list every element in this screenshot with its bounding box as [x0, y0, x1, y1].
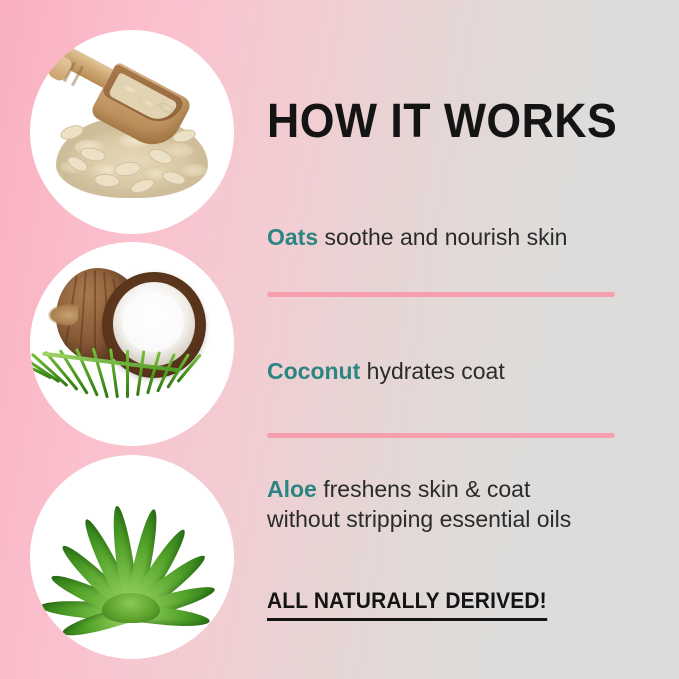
frond-leaflet — [109, 348, 119, 398]
aloe-vera-image — [30, 455, 234, 659]
benefit-line-coconut: Coconut hydrates coat — [267, 356, 505, 386]
benefit-keyword-oats: Oats — [267, 224, 318, 250]
benefit-keyword-coconut: Coconut — [267, 358, 360, 384]
palm-frond — [30, 242, 234, 446]
divider-rule-1 — [267, 292, 615, 297]
ingredient-image-column — [30, 30, 234, 659]
coconut-image — [30, 242, 234, 446]
frond-leaflet — [126, 350, 129, 398]
benefit-text-coconut: hydrates coat — [360, 358, 504, 384]
divider-rule-2 — [267, 433, 615, 438]
frond-leaflet — [136, 350, 145, 396]
text-content-column: HOW IT WORKS Oats soothe and nourish ski… — [267, 0, 667, 679]
page-title: HOW IT WORKS — [267, 98, 617, 146]
benefit-line-aloe: Aloe freshens skin & coat without stripp… — [267, 474, 571, 534]
aloe-rosette-base — [102, 593, 160, 623]
aloe-artwork — [30, 455, 234, 659]
oats-scoop-image — [30, 30, 234, 234]
benefit-text-aloe: freshens skin & coat — [317, 476, 531, 502]
oats-artwork — [30, 30, 234, 234]
benefit-line-aloe-first: Aloe freshens skin & coat — [267, 474, 571, 504]
benefit-keyword-aloe: Aloe — [267, 476, 317, 502]
benefit-line-aloe-second: without stripping essential oils — [267, 504, 571, 534]
benefit-line-oats: Oats soothe and nourish skin — [267, 222, 567, 252]
benefit-text-oats: soothe and nourish skin — [318, 224, 567, 250]
coconut-artwork — [30, 242, 234, 446]
tagline-all-naturally-derived: ALL NATURALLY DERIVED! — [267, 588, 547, 621]
